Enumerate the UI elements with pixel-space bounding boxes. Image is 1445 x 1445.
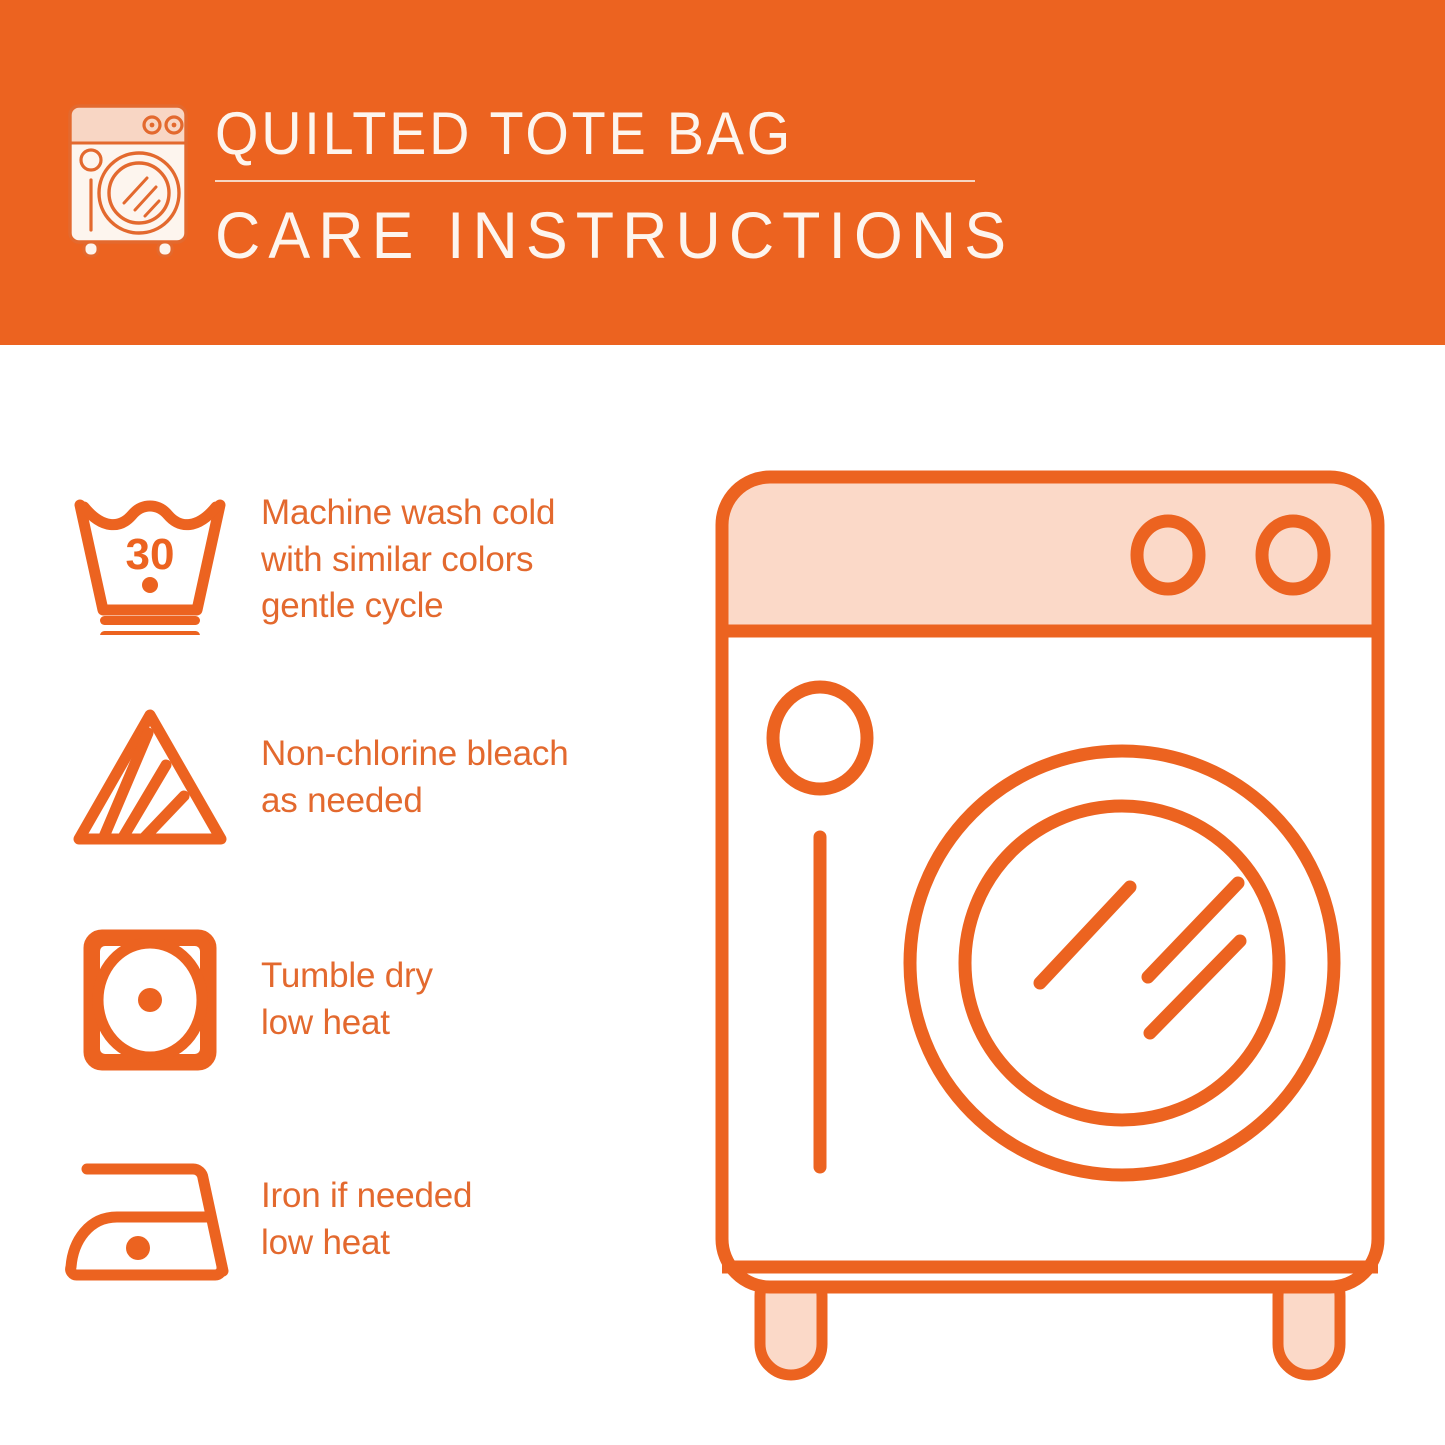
iron-icon [62, 1135, 237, 1305]
page-subtitle: CARE INSTRUCTIONS [215, 202, 975, 268]
tumble-dry-icon [62, 915, 237, 1085]
wash-temperature-label: 30 [125, 530, 174, 579]
care-item-label: Non-chlorine bleach as needed [261, 731, 569, 824]
care-item-label: Iron if needed low heat [261, 1173, 472, 1266]
header-banner: QUILTED TOTE BAG CARE INSTRUCTIONS [0, 0, 1445, 345]
washing-machine-icon [62, 98, 194, 258]
care-instructions-infographic: QUILTED TOTE BAG CARE INSTRUCTIONS 30 [0, 0, 1445, 1445]
care-item-iron: Iron if needed low heat [0, 1135, 700, 1305]
header-text-block: QUILTED TOTE BAG CARE INSTRUCTIONS [215, 104, 1015, 268]
control-panel [722, 477, 1378, 631]
wash-basin-30-icon: 30 [62, 475, 237, 645]
bleach-triangle-icon [62, 693, 237, 863]
header-divider [215, 180, 975, 182]
page-title: QUILTED TOTE BAG [215, 104, 959, 164]
care-item-tumble-dry: Tumble dry low heat [0, 915, 700, 1085]
washing-machine-illustration [700, 455, 1420, 1385]
care-instruction-list: 30 Machine wash cold with similar colors… [0, 345, 700, 1445]
care-item-machine-wash: 30 Machine wash cold with similar colors… [0, 475, 700, 645]
care-item-bleach: Non-chlorine bleach as needed [0, 693, 700, 863]
care-item-label: Machine wash cold with similar colors ge… [261, 490, 555, 630]
care-item-label: Tumble dry low heat [261, 953, 433, 1046]
